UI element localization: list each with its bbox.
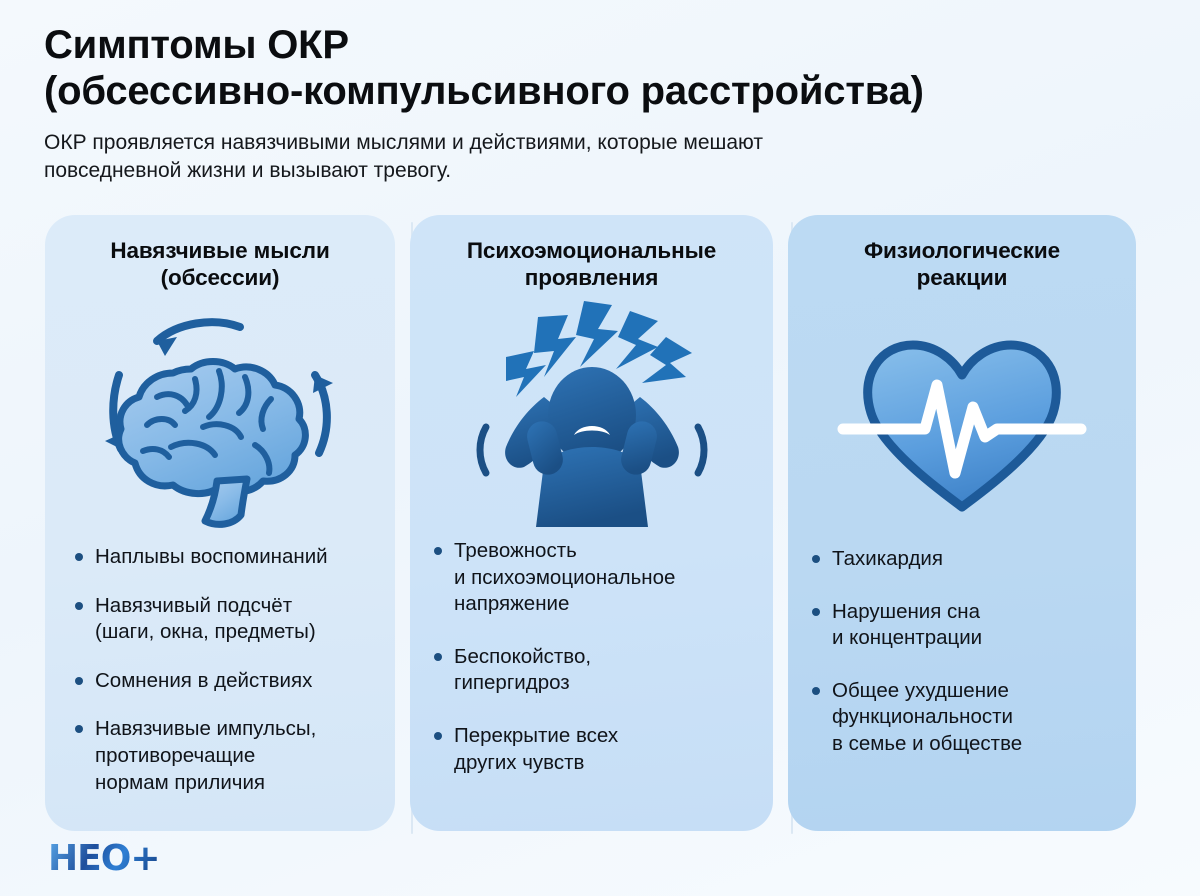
brain-cycle-icon	[45, 294, 395, 544]
infographic-page: Симптомы ОКР (обсессивно-компульсивного …	[0, 0, 1200, 896]
list-item: Тревожность и психоэмоциональное напряже…	[432, 538, 763, 618]
page-subtitle: ОКР проявляется навязчивыми мыслями и де…	[44, 129, 1064, 185]
heart-pulse-icon	[788, 296, 1136, 546]
list-item: Общее ухудшение функциональности в семье…	[810, 678, 1120, 758]
brand-logo-text: НЕО+	[48, 838, 160, 879]
list-item: Перекрытие всех других чувств	[432, 723, 763, 776]
header: Симптомы ОКР (обсессивно-компульсивного …	[44, 22, 1164, 185]
stressed-person-icon	[410, 288, 773, 538]
cards-row: Навязчивые мысли (обсессии)	[45, 215, 1155, 831]
list-item: Навязчивый подсчёт (шаги, окна, предметы…	[73, 593, 379, 646]
page-title: Симптомы ОКР (обсессивно-компульсивного …	[44, 22, 1164, 115]
card-obsessions: Навязчивые мысли (обсессии)	[45, 215, 395, 831]
list-item: Сомнения в действиях	[73, 668, 379, 695]
card-psychoemotional-title: Психоэмоциональные проявления	[410, 237, 773, 292]
list-item: Тахикардия	[810, 546, 1120, 573]
card-obsessions-list: Наплывы воспоминаний Навязчивый подсчёт …	[45, 544, 395, 831]
list-item: Беспокойство, гипергидроз	[432, 644, 763, 697]
card-psychoemotional: Психоэмоциональные проявления	[410, 215, 773, 831]
card-obsessions-title: Навязчивые мысли (обсессии)	[45, 237, 395, 292]
list-item: Наплывы воспоминаний	[73, 544, 379, 571]
brand-logo: НЕО+	[48, 836, 160, 880]
card-psychoemotional-list: Тревожность и психоэмоциональное напряже…	[410, 538, 773, 831]
list-item: Навязчивые импульсы, противоречащие норм…	[73, 716, 379, 796]
card-physiological-list: Тахикардия Нарушения сна и концентрации …	[788, 546, 1136, 831]
card-physiological: Физиологические реакции Тахикардия	[788, 215, 1136, 831]
card-physiological-title: Физиологические реакции	[788, 237, 1136, 292]
list-item: Нарушения сна и концентрации	[810, 599, 1120, 652]
